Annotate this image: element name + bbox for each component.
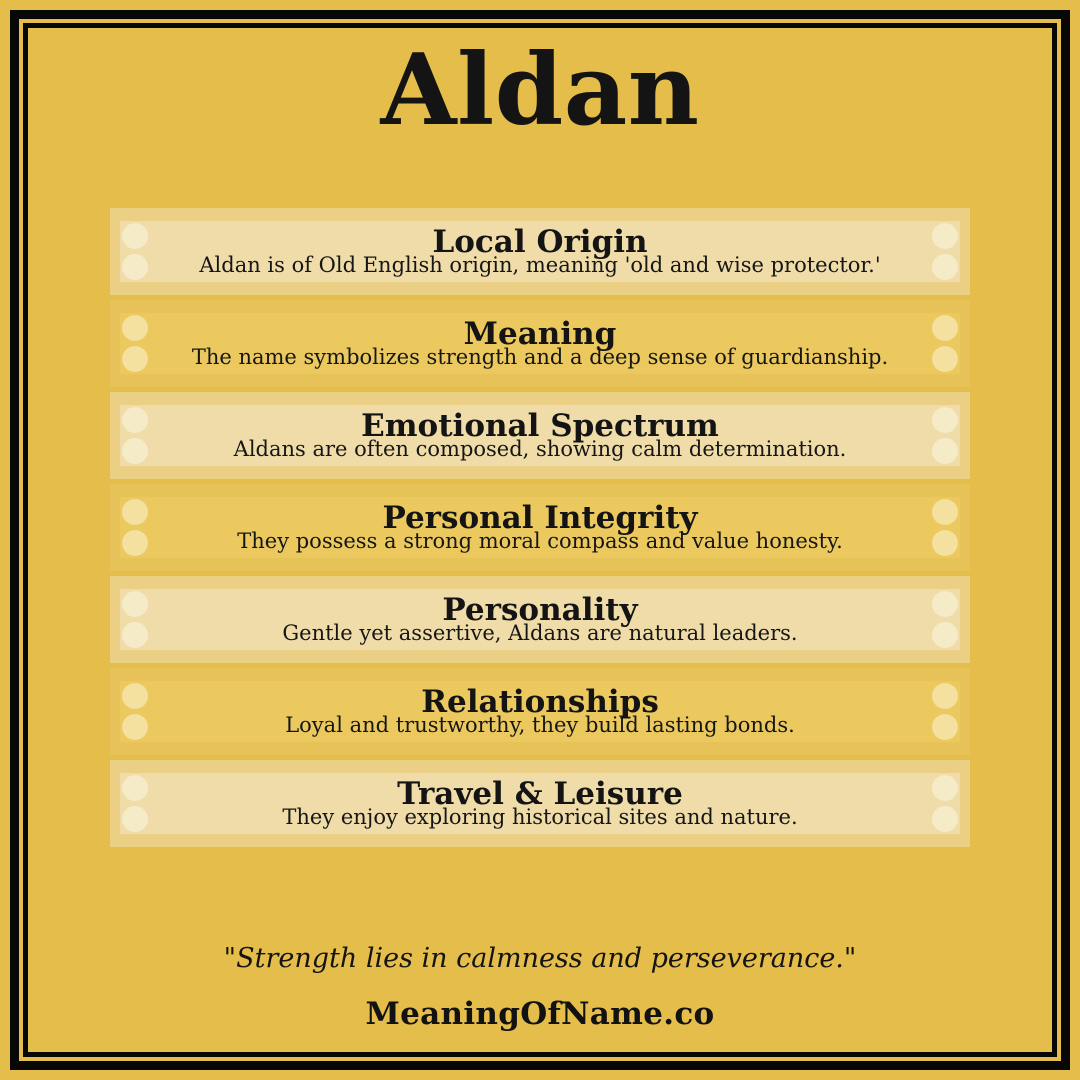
attribute-card: Emotional SpectrumAldans are often compo…: [110, 392, 970, 479]
attribute-card: RelationshipsLoyal and trustworthy, they…: [110, 668, 970, 755]
attribute-card-description: Loyal and trustworthy, they build lastin…: [144, 714, 936, 736]
brand-name: MeaningOfName.co: [28, 996, 1052, 1032]
attribute-card-description: The name symbolizes strength and a deep …: [144, 346, 936, 368]
attribute-card-description: Aldans are often composed, showing calm …: [144, 438, 936, 460]
attribute-card: Personal IntegrityThey possess a strong …: [110, 484, 970, 571]
attribute-card: MeaningThe name symbolizes strength and …: [110, 300, 970, 387]
attribute-card-text: Personal IntegrityThey possess a strong …: [144, 497, 936, 558]
attribute-card-panel: Emotional SpectrumAldans are often compo…: [120, 405, 960, 466]
attribute-card-text: MeaningThe name symbolizes strength and …: [144, 313, 936, 374]
attribute-card-text: RelationshipsLoyal and trustworthy, they…: [144, 681, 936, 742]
poster-root: Aldan Local OriginAldan is of Old Englis…: [0, 0, 1080, 1080]
poster-footer: "Strength lies in calmness and persevera…: [28, 943, 1052, 1032]
attribute-card-panel: Travel & LeisureThey enjoy exploring his…: [120, 773, 960, 834]
attribute-card: Local OriginAldan is of Old English orig…: [110, 208, 970, 295]
attribute-card-panel: MeaningThe name symbolizes strength and …: [120, 313, 960, 374]
attribute-card-text: Local OriginAldan is of Old English orig…: [144, 221, 936, 282]
attribute-card-description: They possess a strong moral compass and …: [144, 530, 936, 552]
attribute-card-description: Gentle yet assertive, Aldans are natural…: [144, 622, 936, 644]
attribute-card-description: They enjoy exploring historical sites an…: [144, 806, 936, 828]
attribute-card: PersonalityGentle yet assertive, Aldans …: [110, 576, 970, 663]
poster-content: Aldan Local OriginAldan is of Old Englis…: [28, 28, 1052, 1052]
attribute-card-panel: RelationshipsLoyal and trustworthy, they…: [120, 681, 960, 742]
attribute-card-panel: Local OriginAldan is of Old English orig…: [120, 221, 960, 282]
attribute-card-text: Emotional SpectrumAldans are often compo…: [144, 405, 936, 466]
page-title: Aldan: [28, 40, 1052, 143]
tagline-quote: "Strength lies in calmness and persevera…: [28, 943, 1052, 974]
attribute-card-panel: PersonalityGentle yet assertive, Aldans …: [120, 589, 960, 650]
attribute-card-list: Local OriginAldan is of Old English orig…: [110, 208, 970, 852]
attribute-card-description: Aldan is of Old English origin, meaning …: [144, 254, 936, 276]
attribute-card: Travel & LeisureThey enjoy exploring his…: [110, 760, 970, 847]
attribute-card-panel: Personal IntegrityThey possess a strong …: [120, 497, 960, 558]
attribute-card-text: Travel & LeisureThey enjoy exploring his…: [144, 773, 936, 834]
attribute-card-text: PersonalityGentle yet assertive, Aldans …: [144, 589, 936, 650]
